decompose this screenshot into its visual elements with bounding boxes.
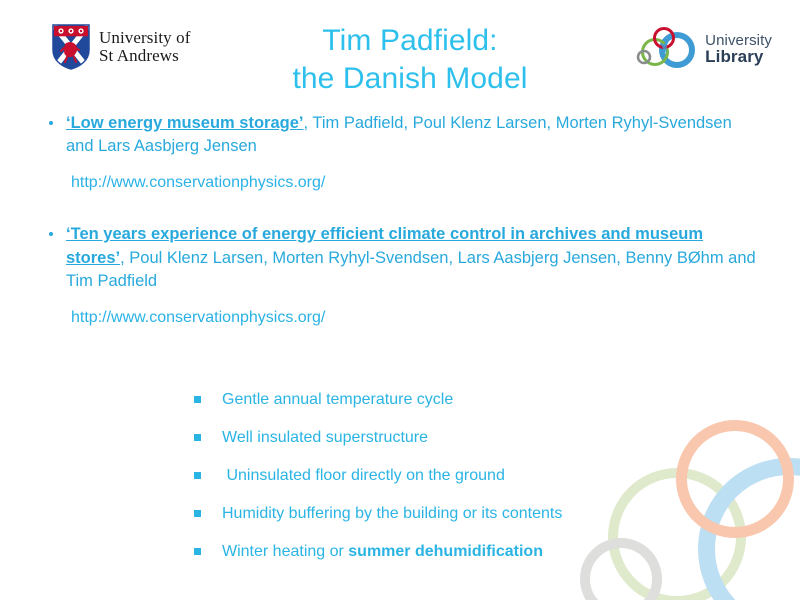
feature-text-4: Humidity buffering by the building or it… <box>222 504 562 523</box>
title-line-1: Tim Padfield: <box>210 22 610 60</box>
st-andrews-logo: University of St Andrews <box>52 24 190 70</box>
st-andrews-wordmark: University of St Andrews <box>99 29 190 65</box>
reference-title-1[interactable]: ‘Low energy museum storage’ <box>66 114 303 132</box>
square-bullet-icon <box>194 510 201 517</box>
reference-url-2[interactable]: http://www.conservationphysics.org/ <box>44 307 760 329</box>
square-bullet-icon <box>194 396 201 403</box>
list-item: Humidity buffering by the building or it… <box>192 495 712 533</box>
reference-authors-2: , Poul Klenz Larsen, Morten Ryhyl-Svends… <box>66 249 756 290</box>
blue-ring-icon <box>698 458 800 600</box>
st-andrews-crest-icon <box>52 24 90 70</box>
university-library-wordmark: University Library <box>705 33 772 66</box>
page-title: Tim Padfield: the Danish Model <box>210 22 610 98</box>
square-bullet-icon <box>194 548 201 555</box>
university-library-logo: University Library <box>633 24 772 74</box>
list-item: Winter heating or summer dehumidificatio… <box>192 533 712 571</box>
list-item: Uninsulated floor directly on the ground <box>192 457 712 495</box>
feature-list: Gentle annual temperature cycle Well ins… <box>192 381 712 571</box>
feature-text-2: Well insulated superstructure <box>222 428 428 447</box>
bullet-dot-icon <box>49 121 53 125</box>
list-item: Gentle annual temperature cycle <box>192 381 712 419</box>
feature-text-5-emphasis: summer dehumidification <box>348 542 543 561</box>
feature-text-3: Uninsulated floor directly on the ground <box>222 466 505 485</box>
title-line-2: the Danish Model <box>210 60 610 98</box>
feature-text-1: Gentle annual temperature cycle <box>222 390 453 409</box>
university-library-rings-icon <box>633 24 697 74</box>
library-word-line-1: University <box>705 33 772 48</box>
list-spacer <box>44 193 760 223</box>
reference-item-1: ‘Low energy museum storage’, Tim Padfiel… <box>44 112 760 159</box>
slide-canvas: University of St Andrews Tim Padfield: t… <box>0 0 800 600</box>
reference-url-1[interactable]: http://www.conservationphysics.org/ <box>44 172 760 194</box>
feature-text-5: Winter heating or <box>222 542 348 561</box>
reference-list: ‘Low energy museum storage’, Tim Padfiel… <box>44 112 760 328</box>
bullet-dot-icon <box>49 232 53 236</box>
list-item: Well insulated superstructure <box>192 419 712 457</box>
square-bullet-icon <box>194 434 201 441</box>
reference-item-2: ‘Ten years experience of energy efficien… <box>44 223 760 293</box>
library-word-line-2: Library <box>705 48 772 65</box>
square-bullet-icon <box>194 472 201 479</box>
